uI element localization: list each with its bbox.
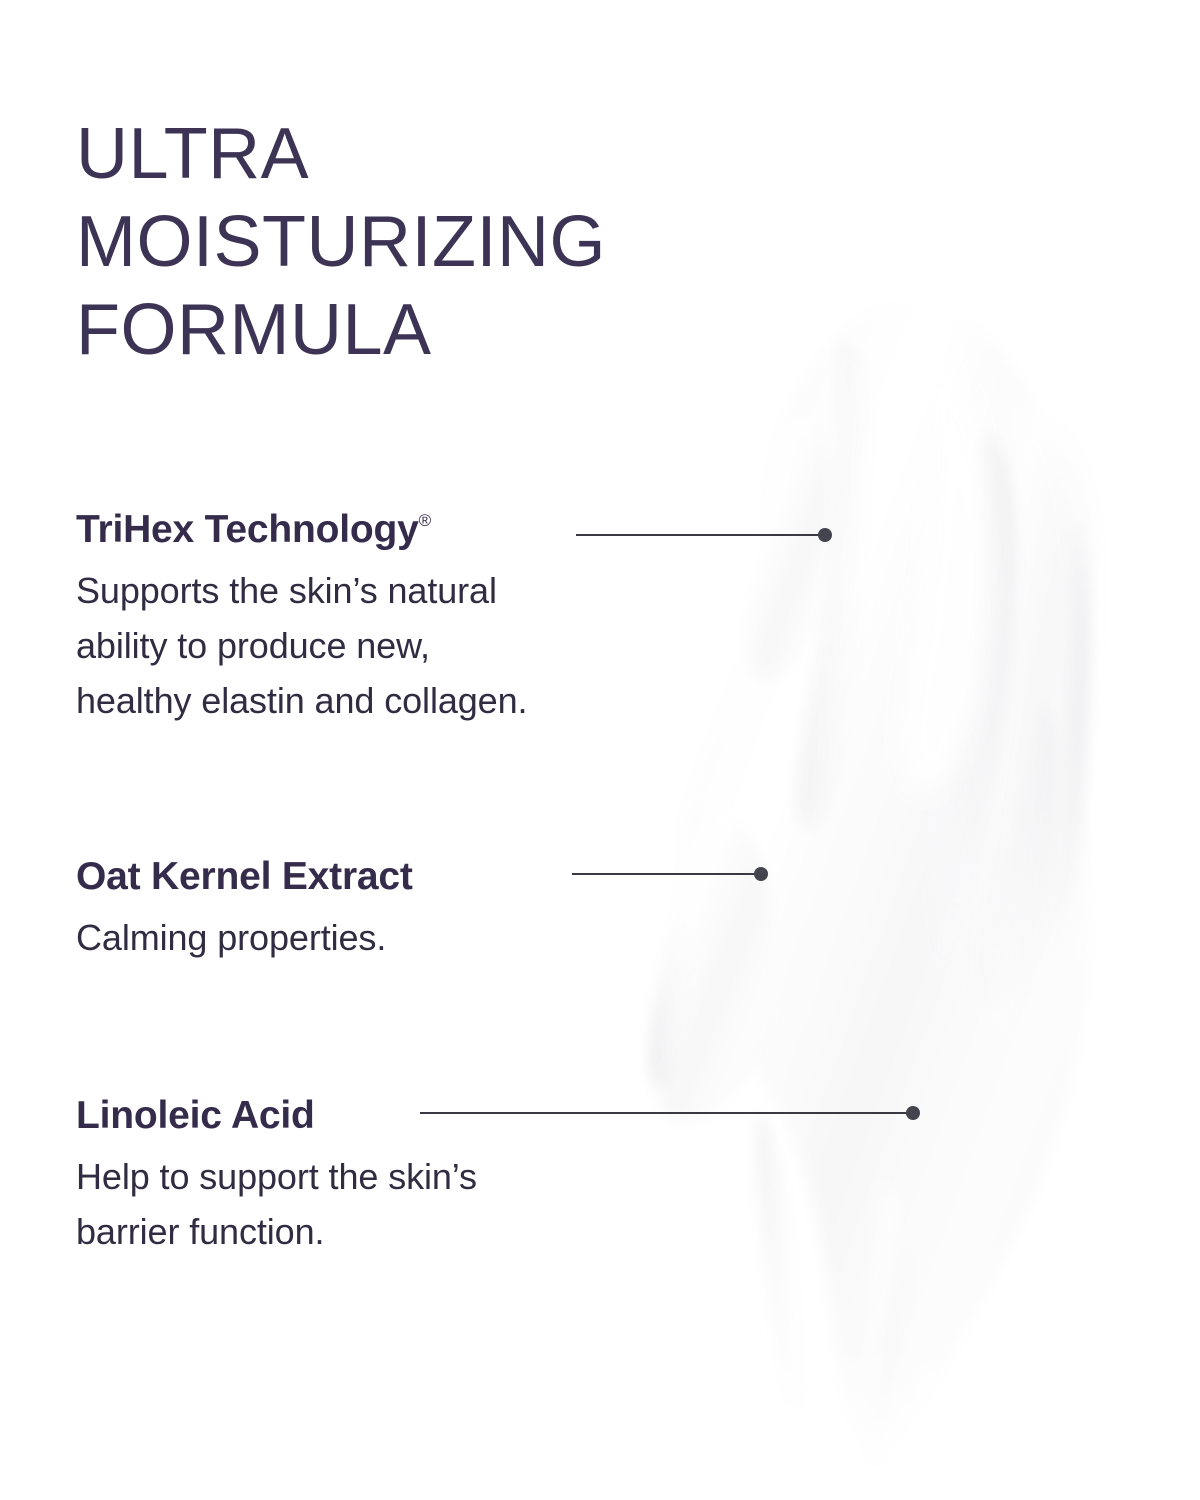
feature-description: Calming properties. xyxy=(76,900,413,965)
feature-description: Help to support the skin’s barrier funct… xyxy=(76,1139,477,1259)
product-ingredient-infographic: Ultra Moisturizing Formula TriHex Techno… xyxy=(0,0,1200,1500)
feature-block-trihex-technology: TriHex Technology® Supports the skin’s n… xyxy=(76,498,527,728)
feature-heading-label: Linoleic Acid xyxy=(76,1094,315,1137)
registered-trademark-icon: ® xyxy=(419,511,432,530)
feature-heading-label: Oat Kernel Extract xyxy=(76,855,413,898)
callout-linoleic-acid xyxy=(420,1106,920,1120)
callout-dot xyxy=(754,867,768,881)
callout-dot xyxy=(906,1106,920,1120)
feature-heading-label: TriHex Technology xyxy=(76,508,419,551)
page-title: Ultra Moisturizing Formula xyxy=(76,110,796,374)
feature-block-oat-kernel-extract: Oat Kernel Extract Calming properties. xyxy=(76,845,413,965)
feature-heading: Linoleic Acid xyxy=(76,1084,477,1139)
callout-line xyxy=(576,534,820,536)
callout-oat-kernel-extract xyxy=(572,867,768,881)
feature-block-linoleic-acid: Linoleic Acid Help to support the skin’s… xyxy=(76,1084,477,1259)
callout-trihex-technology xyxy=(576,528,832,542)
callout-dot xyxy=(818,528,832,542)
feature-description: Supports the skin’s natural ability to p… xyxy=(76,553,527,728)
feature-heading: TriHex Technology® xyxy=(76,498,527,553)
callout-line xyxy=(420,1112,908,1114)
feature-heading: Oat Kernel Extract xyxy=(76,845,413,900)
callout-line xyxy=(572,873,756,875)
